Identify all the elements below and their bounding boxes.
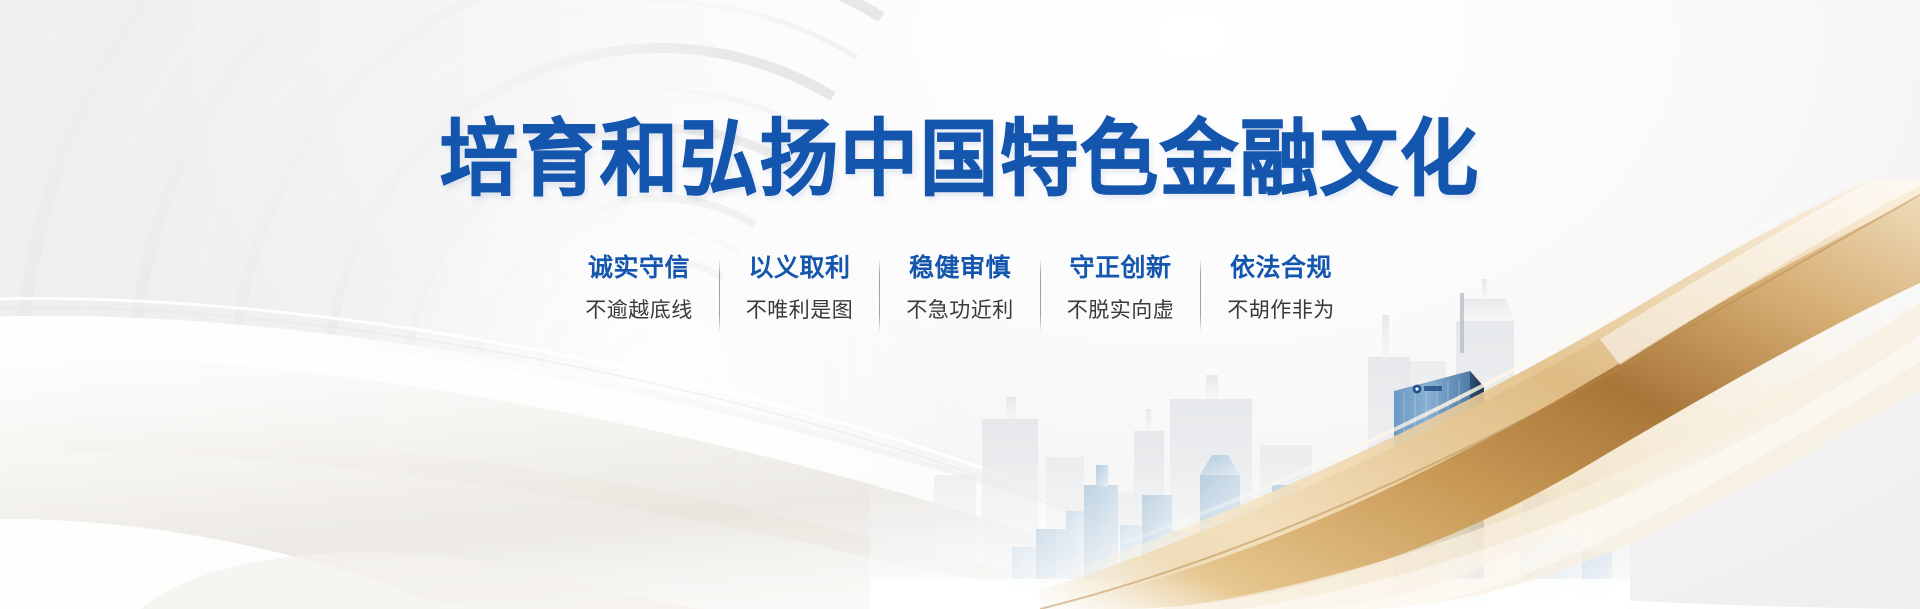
pillar-main-label: 守正创新	[1069, 254, 1171, 282]
banner-root: 培育和弘扬中国特色金融文化 诚实守信 不逾越底线 以义取利 不唯利是图 稳健审慎…	[0, 0, 1920, 609]
pillar-sub-label: 不急功近利	[906, 299, 1014, 322]
pillar-main-label: 以义取利	[748, 254, 850, 282]
page-title: 培育和弘扬中国特色金融文化	[0, 0, 1920, 203]
pillar-item-1: 诚实守信 不逾越底线	[559, 254, 719, 323]
pillar-list: 诚实守信 不逾越底线 以义取利 不唯利是图 稳健审慎 不急功近利 守正创新 不脱…	[0, 254, 1920, 332]
pillar-main-label: 依法合规	[1230, 254, 1332, 282]
pillar-item-5: 依法合规 不胡作非为	[1201, 254, 1361, 323]
pillar-main-label: 诚实守信	[588, 254, 690, 282]
pillar-item-2: 以义取利 不唯利是图	[720, 254, 880, 323]
pillar-item-3: 稳健审慎 不急功近利	[880, 254, 1040, 323]
banner-content: 培育和弘扬中国特色金融文化 诚实守信 不逾越底线 以义取利 不唯利是图 稳健审慎…	[0, 0, 1920, 332]
pillar-item-4: 守正创新 不脱实向虚	[1041, 254, 1201, 323]
pillar-sub-label: 不胡作非为	[1227, 299, 1335, 322]
pillar-main-label: 稳健审慎	[909, 254, 1011, 282]
pillar-sub-label: 不逾越底线	[585, 299, 693, 322]
pillar-sub-label: 不脱实向虚	[1067, 299, 1175, 322]
pillar-sub-label: 不唯利是图	[746, 299, 854, 322]
